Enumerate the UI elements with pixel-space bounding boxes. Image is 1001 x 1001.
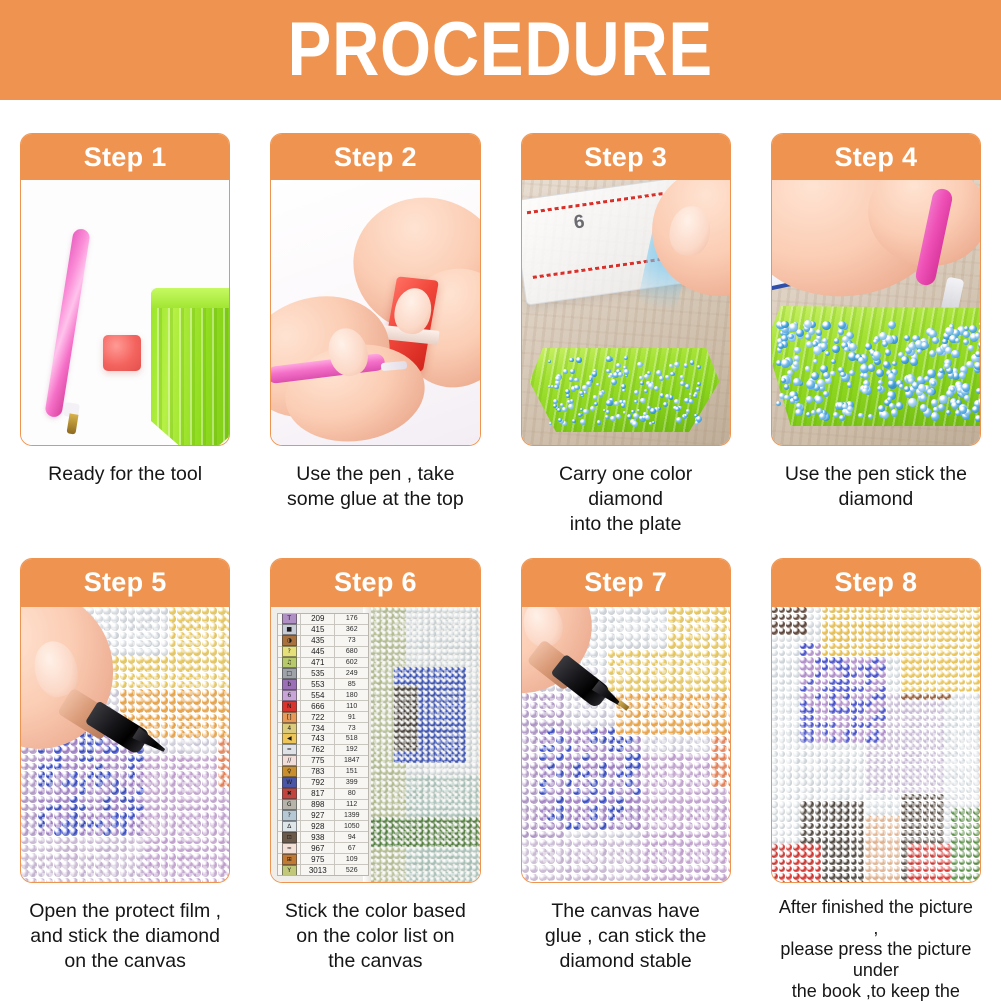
- step-label-8: Step 8: [834, 567, 917, 598]
- mosaic-bead: [460, 835, 466, 841]
- mosaic-bead: [418, 703, 424, 709]
- mosaic-bead: [901, 751, 908, 758]
- color-swatch-symbol: ?: [278, 647, 301, 657]
- mosaic-bead: [193, 746, 201, 754]
- mosaic-bead: [944, 693, 951, 700]
- mosaic-bead: [642, 684, 650, 692]
- diamond-bead: [659, 376, 664, 381]
- mosaic-bead: [29, 820, 37, 828]
- color-legend-row: ≈96767: [278, 843, 368, 854]
- color-swatch-symbol: T: [278, 614, 301, 624]
- mosaic-bead: [111, 861, 119, 869]
- mosaic-bead: [966, 844, 973, 851]
- color-code: 938: [301, 832, 335, 842]
- step-image-7: [522, 607, 730, 882]
- mosaic-bead: [923, 643, 930, 650]
- mosaic-bead: [193, 738, 201, 746]
- mosaic-bead: [966, 715, 973, 722]
- mosaic-bead: [95, 787, 103, 795]
- mosaic-bead: [177, 878, 185, 882]
- diamond-bead: [956, 400, 961, 405]
- mosaic-bead: [908, 635, 915, 642]
- mosaic-bead: [95, 861, 103, 869]
- mosaic-bead: [466, 835, 472, 841]
- mosaic-bead: [394, 817, 400, 823]
- mosaic-bead: [772, 794, 778, 801]
- mosaic-bead: [573, 856, 581, 864]
- diamond-bead: [944, 363, 950, 369]
- mosaic-bead: [152, 779, 160, 787]
- mosaic-bead: [418, 775, 424, 781]
- mosaic-bead: [685, 805, 693, 813]
- mosaic-bead: [161, 853, 169, 861]
- mosaic-bead: [836, 707, 843, 714]
- diamond-bead: [931, 399, 938, 406]
- mosaic-bead: [651, 684, 659, 692]
- mosaic-bead: [376, 631, 382, 637]
- mosaic-bead: [887, 671, 894, 678]
- mosaic-bead: [608, 676, 616, 684]
- mosaic-bead: [966, 707, 973, 714]
- mosaic-bead: [659, 710, 667, 718]
- diamond-bead: [660, 393, 664, 397]
- mosaic-bead: [539, 745, 547, 753]
- mosaic-bead: [95, 771, 103, 779]
- mosaic-bead: [406, 865, 412, 871]
- mosaic-bead: [128, 607, 136, 615]
- mosaic-bead: [815, 873, 822, 880]
- mosaic-bead: [565, 753, 573, 761]
- mosaic-bead: [573, 770, 581, 778]
- mosaic-bead: [448, 613, 454, 619]
- mosaic-bead: [668, 839, 676, 847]
- mosaic-bead: [702, 667, 710, 675]
- mosaic-bead: [608, 874, 616, 882]
- mosaic-bead: [973, 787, 980, 794]
- mosaic-bead: [478, 619, 479, 625]
- mosaic-bead: [923, 664, 930, 671]
- mosaic-bead: [103, 837, 111, 845]
- mosaic-bead: [400, 613, 406, 619]
- color-count: 73: [335, 723, 368, 733]
- mosaic-bead: [659, 607, 667, 615]
- mosaic-bead: [418, 745, 424, 751]
- mosaic-bead: [565, 770, 573, 778]
- mosaic-bead: [676, 659, 684, 667]
- mosaic-bead: [370, 817, 376, 823]
- mosaic-bead: [169, 632, 177, 640]
- mosaic-bead: [226, 673, 229, 681]
- mosaic-bead: [400, 871, 406, 877]
- mosaic-bead: [565, 865, 573, 873]
- mosaic-bead: [728, 788, 730, 796]
- mosaic-bead: [87, 828, 95, 836]
- mosaic-bead: [128, 623, 136, 631]
- mosaic-bead: [887, 787, 894, 794]
- mosaic-bead: [547, 702, 555, 710]
- mosaic-bead: [412, 751, 418, 757]
- mosaic-bead: [668, 633, 676, 641]
- mosaic-bead: [908, 679, 915, 686]
- mosaic-bead: [436, 817, 442, 823]
- mosaic-bead: [711, 667, 719, 675]
- mosaic-bead: [424, 769, 430, 775]
- mosaic-bead: [901, 722, 908, 729]
- mosaic-bead: [800, 851, 807, 858]
- mosaic-bead: [218, 705, 226, 713]
- mosaic-bead: [829, 657, 836, 664]
- mosaic-bead: [937, 837, 944, 844]
- mosaic-bead: [218, 664, 226, 672]
- diamond-bead: [684, 363, 689, 368]
- mosaic-bead: [382, 709, 388, 715]
- mosaic-bead: [436, 841, 442, 847]
- mosaic-bead: [822, 715, 829, 722]
- mosaic-bead: [894, 859, 901, 866]
- mosaic-bead: [582, 839, 590, 847]
- mosaic-bead: [400, 721, 406, 727]
- mosaic-bead: [879, 693, 886, 700]
- mosaic-bead: [829, 607, 836, 613]
- mosaic-bead: [202, 722, 210, 730]
- mosaic-bead: [406, 835, 412, 841]
- mosaic-bead: [394, 781, 400, 787]
- step-card-4[interactable]: Step 4: [771, 133, 981, 446]
- mosaic-bead: [966, 837, 973, 844]
- mosaic-bead: [177, 722, 185, 730]
- mosaic-bead: [959, 779, 966, 786]
- mosaic-bead: [694, 762, 702, 770]
- mosaic-bead: [478, 667, 479, 673]
- mosaic-bead: [815, 794, 822, 801]
- mosaic-canvas: [367, 607, 479, 882]
- mosaic-bead: [573, 796, 581, 804]
- mosaic-bead: [472, 799, 478, 805]
- mosaic-bead: [412, 829, 418, 835]
- mosaic-bead: [193, 853, 201, 861]
- mosaic-bead: [625, 788, 633, 796]
- mosaic-bead: [930, 837, 937, 844]
- mosaic-bead: [161, 869, 169, 877]
- mosaic-bead: [793, 787, 800, 794]
- mosaic-bead: [915, 772, 922, 779]
- mosaic-bead: [70, 787, 78, 795]
- mosaic-bead: [676, 822, 684, 830]
- mosaic-bead: [719, 796, 727, 804]
- diamond-bead: [656, 370, 662, 376]
- mosaic-bead: [430, 865, 436, 871]
- mosaic-bead: [858, 707, 865, 714]
- mosaic-bead: [376, 793, 382, 799]
- mosaic-bead: [62, 837, 70, 845]
- mosaic-bead: [111, 648, 119, 656]
- mosaic-bead: [460, 877, 466, 882]
- mosaic-bead: [915, 844, 922, 851]
- mosaic-bead: [21, 812, 29, 820]
- mosaic-bead: [711, 719, 719, 727]
- mosaic-bead: [625, 839, 633, 847]
- mosaic-bead: [152, 681, 160, 689]
- mosaic-bead: [711, 831, 719, 839]
- mosaic-bead: [807, 657, 814, 664]
- mosaic-bead: [908, 859, 915, 866]
- mosaic-bead: [177, 664, 185, 672]
- step-card-6[interactable]: Step 6 T209176■415362◑43573?445680♫47160…: [270, 558, 480, 883]
- mosaic-bead: [651, 848, 659, 856]
- mosaic-bead: [951, 779, 958, 786]
- mosaic-bead: [959, 830, 966, 837]
- mosaic-bead: [851, 643, 858, 650]
- mosaic-bead: [460, 637, 466, 643]
- diamond-bead: [579, 391, 583, 395]
- diamond-bead: [806, 341, 813, 348]
- mosaic-bead: [843, 671, 850, 678]
- mosaic-bead: [973, 621, 980, 628]
- color-legend-table[interactable]: T209176■415362◑43573?445680♫471602□53524…: [277, 613, 369, 876]
- mosaic-bead: [472, 727, 478, 733]
- mosaic-bead: [829, 801, 836, 808]
- mosaic-bead: [685, 779, 693, 787]
- mosaic-bead: [478, 703, 479, 709]
- mosaic-bead: [872, 815, 879, 822]
- mosaic-bead: [226, 623, 229, 631]
- mosaic-bead: [676, 788, 684, 796]
- mosaic-bead: [702, 770, 710, 778]
- mosaic-bead: [202, 878, 210, 882]
- mosaic-bead: [442, 739, 448, 745]
- mosaic-bead: [442, 661, 448, 667]
- mosaic-bead: [901, 837, 908, 844]
- mosaic-bead: [29, 861, 37, 869]
- mosaic-bead: [62, 861, 70, 869]
- mosaic-bead: [38, 845, 46, 853]
- mosaic-bead: [382, 853, 388, 859]
- mosaic-bead: [951, 866, 958, 873]
- mosaic-bead: [376, 787, 382, 793]
- mosaic-bead: [872, 743, 879, 750]
- mosaic-bead: [218, 787, 226, 795]
- mosaic-bead: [120, 837, 128, 845]
- mosaic-bead: [448, 721, 454, 727]
- mosaic-bead: [779, 758, 786, 765]
- mosaic-bead: [161, 689, 169, 697]
- mosaic-bead: [376, 805, 382, 811]
- mosaic-bead: [858, 736, 865, 743]
- mosaic-bead: [872, 671, 879, 678]
- mosaic-bead: [772, 873, 778, 880]
- mosaic-bead: [642, 667, 650, 675]
- mosaic-bead: [908, 815, 915, 822]
- step-card-1[interactable]: Step 1: [20, 133, 230, 446]
- mosaic-bead: [152, 812, 160, 820]
- mosaic-bead: [668, 736, 676, 744]
- mosaic-bead: [472, 877, 478, 882]
- mosaic-bead: [547, 848, 555, 856]
- mosaic-bead: [152, 722, 160, 730]
- mosaic-bead: [843, 736, 850, 743]
- mosaic-bead: [851, 679, 858, 686]
- mosaic-bead: [642, 710, 650, 718]
- step-image-8: [772, 607, 980, 882]
- mosaic-bead: [430, 697, 436, 703]
- mosaic-bead: [144, 853, 152, 861]
- mosaic-bead: [642, 693, 650, 701]
- mosaic-bead: [836, 607, 843, 613]
- mosaic-bead: [530, 848, 538, 856]
- mosaic-bead: [430, 661, 436, 667]
- mosaic-bead: [944, 794, 951, 801]
- mosaic-bead: [786, 621, 793, 628]
- mosaic-bead: [193, 861, 201, 869]
- mosaic-bead: [599, 607, 607, 615]
- mosaic-bead: [565, 796, 573, 804]
- diamond-bead: [693, 394, 698, 399]
- mosaic-bead: [454, 871, 460, 877]
- mosaic-bead: [388, 745, 394, 751]
- mosaic-bead: [177, 640, 185, 648]
- mosaic-bead: [418, 853, 424, 859]
- mosaic-bead: [822, 635, 829, 642]
- mosaic-bead: [694, 865, 702, 873]
- mosaic-bead: [460, 799, 466, 805]
- mosaic-bead: [436, 697, 442, 703]
- mosaic-bead: [822, 794, 829, 801]
- mosaic-bead: [807, 628, 814, 635]
- diamond-bead: [892, 361, 897, 366]
- step-image-1: [21, 180, 229, 445]
- mosaic-bead: [472, 613, 478, 619]
- step-card-3[interactable]: Step 3 6: [521, 133, 731, 446]
- mosaic-bead: [616, 719, 624, 727]
- mosaic-bead: [466, 859, 472, 865]
- mosaic-bead: [728, 676, 730, 684]
- mosaic-bead: [111, 755, 119, 763]
- mosaic-bead: [418, 835, 424, 841]
- mosaic-bead: [454, 655, 460, 661]
- step-card-2[interactable]: Step 2: [270, 133, 480, 446]
- mosaic-bead: [185, 632, 193, 640]
- mosaic-bead: [95, 853, 103, 861]
- mosaic-bead: [539, 813, 547, 821]
- mosaic-bead: [836, 851, 843, 858]
- diamond-bead: [832, 345, 840, 353]
- mosaic-bead: [376, 871, 382, 877]
- mosaic-bead: [412, 655, 418, 661]
- mosaic-bead: [530, 719, 538, 727]
- mosaic-bead: [887, 830, 894, 837]
- mosaic-bead: [539, 770, 547, 778]
- mosaic-bead: [128, 869, 136, 877]
- mosaic-bead: [822, 859, 829, 866]
- diamond-bead: [606, 356, 611, 361]
- mosaic-bead: [169, 615, 177, 623]
- mosaic-bead: [923, 815, 930, 822]
- mosaic-bead: [226, 722, 229, 730]
- mosaic-bead: [807, 837, 814, 844]
- mosaic-bead: [599, 839, 607, 847]
- mosaic-bead: [959, 772, 966, 779]
- diamond-bead: [576, 357, 581, 362]
- mosaic-bead: [676, 727, 684, 735]
- step-card-7[interactable]: Step 7: [521, 558, 731, 883]
- diamond-bead: [690, 360, 695, 365]
- mosaic-bead: [442, 631, 448, 637]
- diamond-bead: [640, 381, 644, 385]
- mosaic-bead: [879, 707, 886, 714]
- mosaic-bead: [218, 673, 226, 681]
- mosaic-bead: [973, 808, 980, 815]
- mosaic-bead: [608, 753, 616, 761]
- mosaic-bead: [466, 793, 472, 799]
- mosaic-bead: [659, 727, 667, 735]
- mosaic-bead: [633, 831, 641, 839]
- mosaic-bead: [87, 837, 95, 845]
- mosaic-bead: [522, 753, 530, 761]
- mosaic-bead: [685, 736, 693, 744]
- step-caption-3: Carry one color diamond into the plate: [521, 446, 731, 537]
- mosaic-bead: [829, 635, 836, 642]
- mosaic-bead: [120, 820, 128, 828]
- mosaic-bead: [901, 657, 908, 664]
- mosaic-bead: [951, 823, 958, 830]
- mosaic-bead: [430, 847, 436, 853]
- mosaic-bead: [858, 751, 865, 758]
- mosaic-bead: [668, 667, 676, 675]
- mosaic-bead: [202, 697, 210, 705]
- mosaic-bead: [406, 703, 412, 709]
- mosaic-bead: [894, 801, 901, 808]
- mosaic-bead: [424, 745, 430, 751]
- mosaic-bead: [46, 845, 54, 853]
- mosaic-bead: [779, 607, 786, 613]
- step-card-5[interactable]: Step 5: [20, 558, 230, 883]
- mosaic-bead: [625, 770, 633, 778]
- mosaic-bead: [642, 822, 650, 830]
- mosaic-bead: [210, 673, 218, 681]
- mosaic-bead: [608, 719, 616, 727]
- step-card-8[interactable]: Step 8: [771, 558, 981, 883]
- mosaic-bead: [454, 691, 460, 697]
- mosaic-bead: [226, 853, 229, 861]
- mosaic-bead: [908, 722, 915, 729]
- mosaic-bead: [144, 623, 152, 631]
- mosaic-bead: [382, 619, 388, 625]
- mosaic-bead: [522, 736, 530, 744]
- mosaic-bead: [161, 787, 169, 795]
- color-code: 743: [301, 734, 335, 744]
- mosaic-bead: [177, 779, 185, 787]
- mosaic-bead: [454, 745, 460, 751]
- step-header-6: Step 6: [271, 559, 479, 607]
- mosaic-bead: [177, 714, 185, 722]
- mosaic-bead: [728, 719, 730, 727]
- mosaic-bead: [930, 621, 937, 628]
- mosaic-bead: [915, 715, 922, 722]
- mosaic-bead: [144, 828, 152, 836]
- diamond-bead: [929, 350, 936, 357]
- mosaic-bead: [836, 700, 843, 707]
- mosaic-bead: [651, 762, 659, 770]
- mosaic-bead: [103, 623, 111, 631]
- mosaic-bead: [879, 830, 886, 837]
- diamond-bead: [974, 362, 980, 371]
- mosaic-bead: [394, 721, 400, 727]
- mosaic-bead: [651, 874, 659, 882]
- mosaic-bead: [786, 772, 793, 779]
- mosaic-bead: [786, 844, 793, 851]
- mosaic-bead: [530, 831, 538, 839]
- mosaic-bead: [793, 779, 800, 786]
